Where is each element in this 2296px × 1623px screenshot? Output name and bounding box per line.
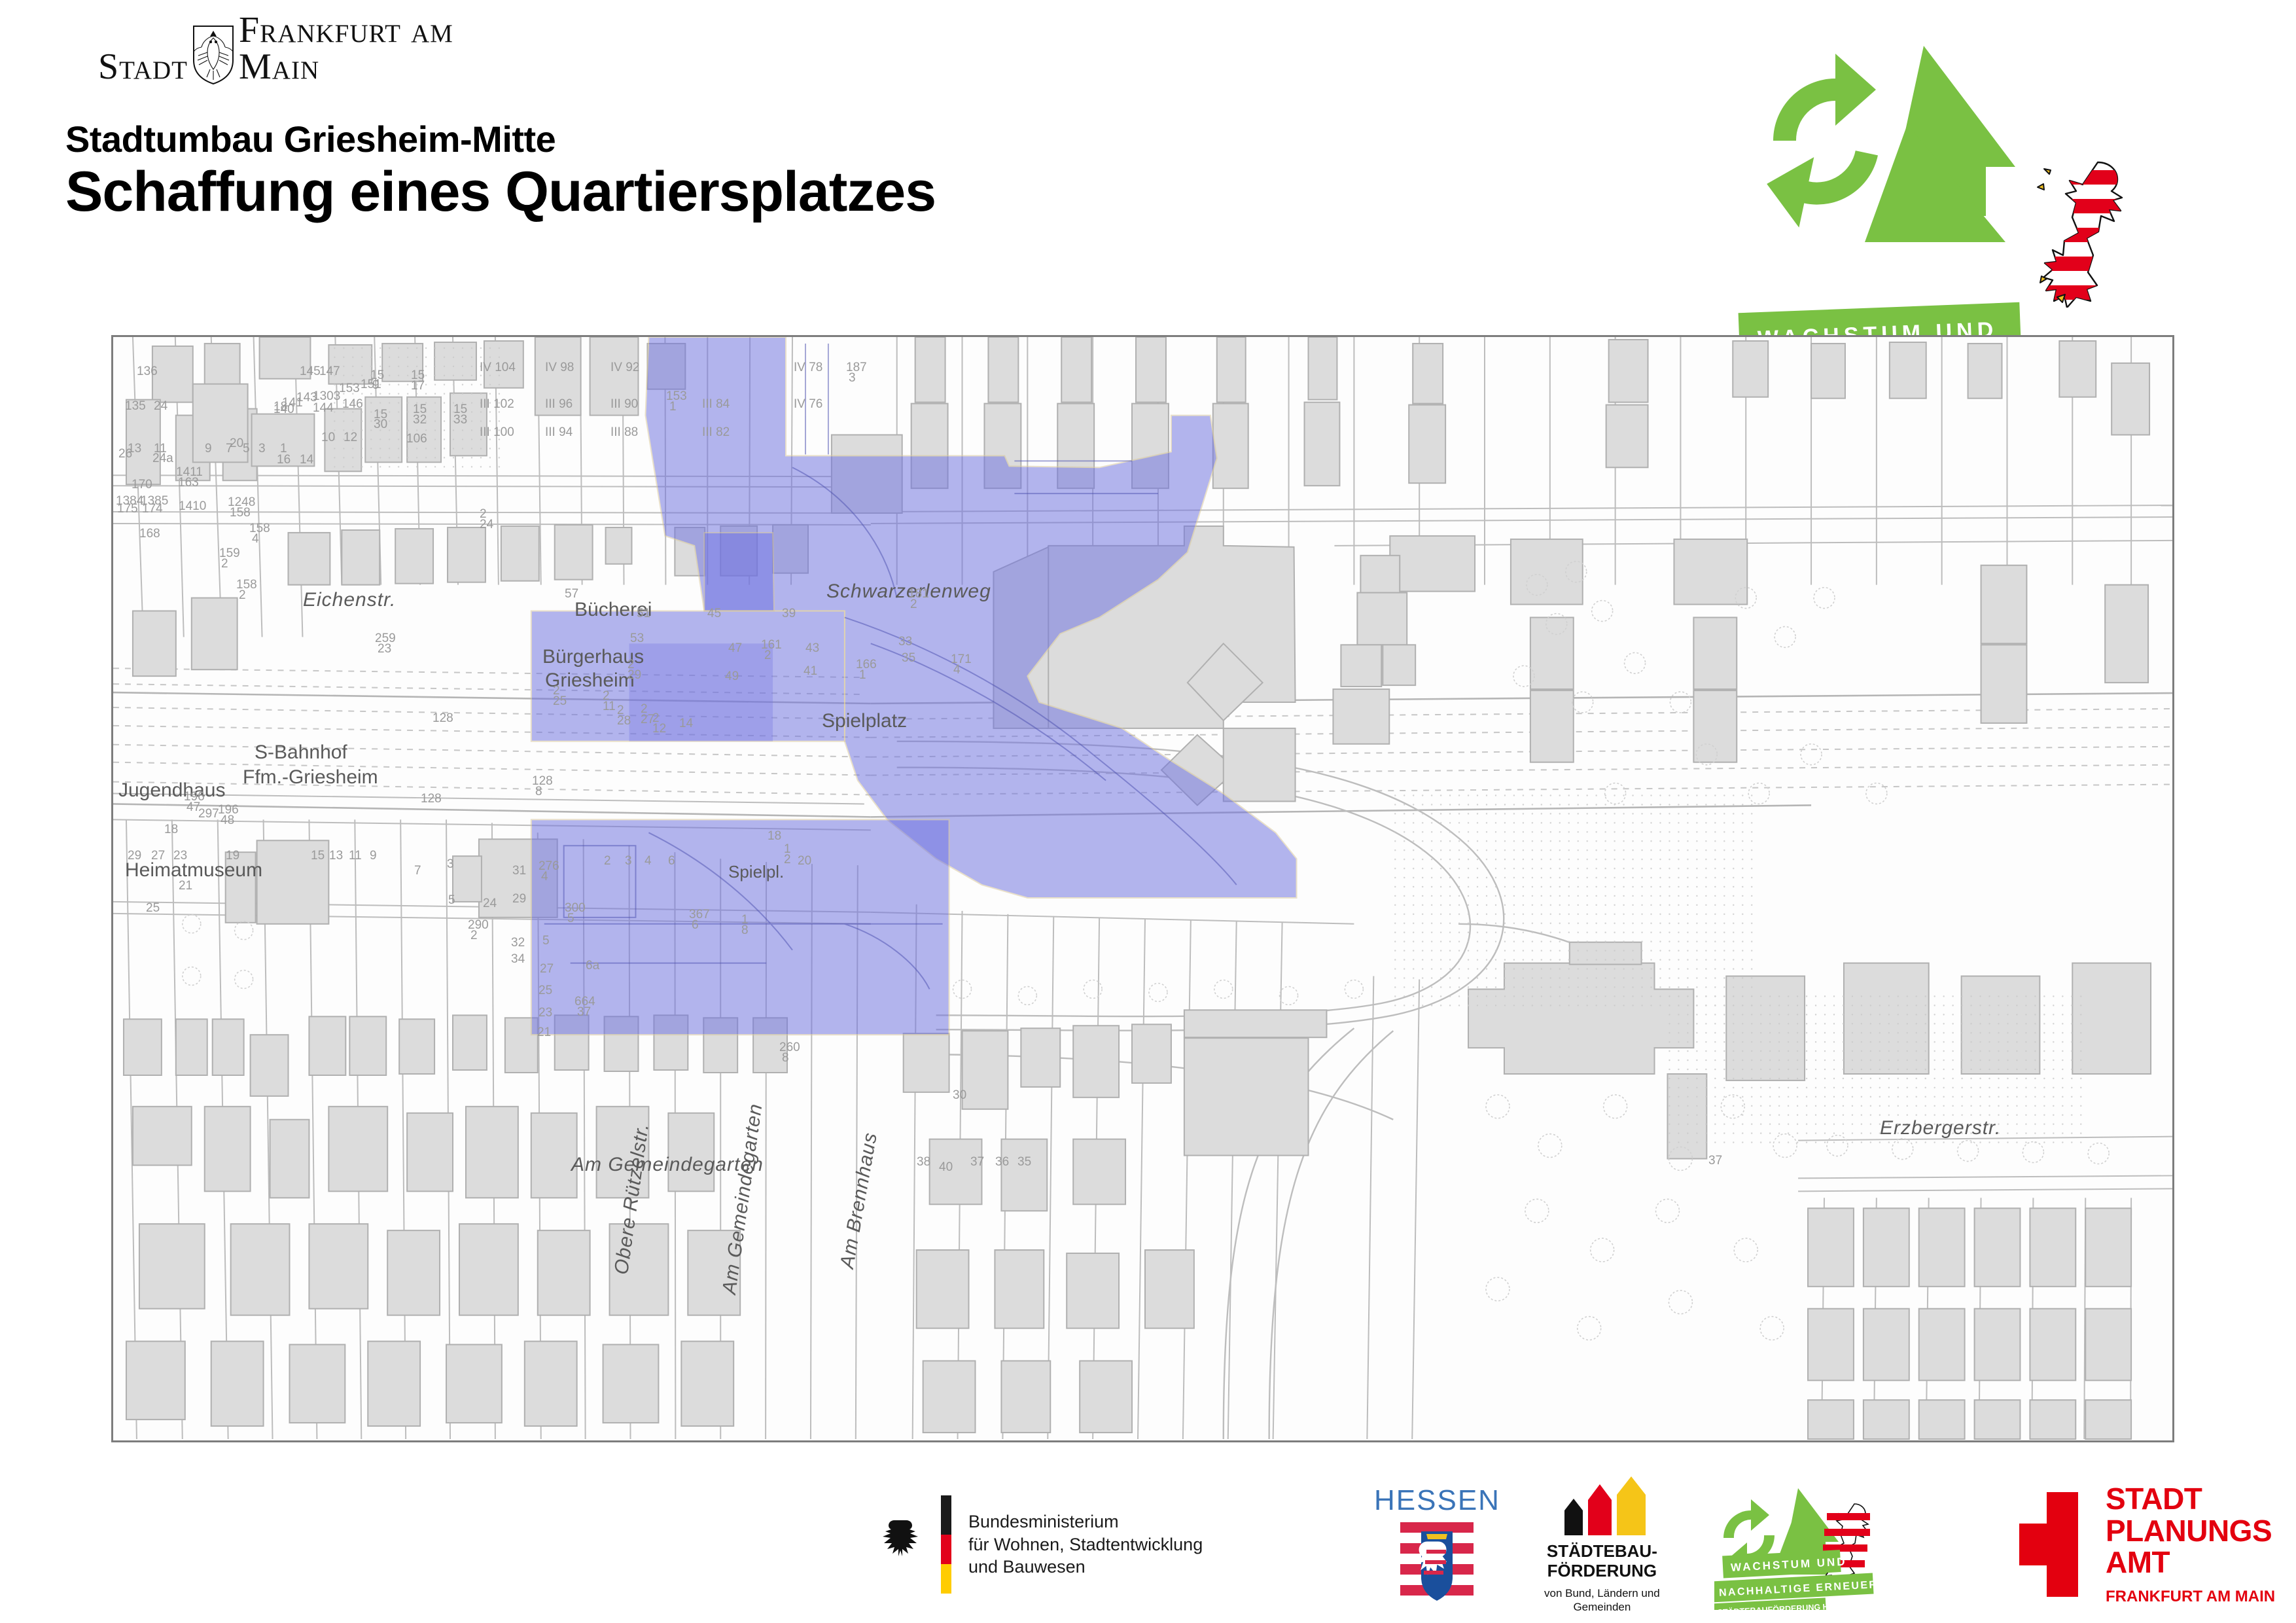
bund-line-1: Bundesministerium [968,1510,1203,1533]
spa-line-2: PLANUNGS [2106,1515,2275,1547]
hessen-shield-icon [1400,1520,1474,1605]
staedtebau-subtitle: von Bund, Ländern und Gemeinden [1544,1586,1660,1614]
stadtplanungsamt-text: STADT PLANUNGS AMT FRANKFURT AM MAIN [2106,1483,2275,1606]
bund-line-3: und Bauwesen [968,1556,1203,1578]
footer-wachstum-logo: WACHSTUM UND NACHHALTIGE ERNEUERUNG STÄD… [1714,1479,1911,1610]
frankfurt-eagle-crest-icon [192,25,235,85]
city-logo-word-stadt: Stadt [98,48,188,85]
city-of-frankfurt-logo: Stadt Frankfurt am Main [98,26,517,85]
staedtebau-sub-line-2: Gemeinden [1544,1600,1660,1614]
green-recycle-house-icon [1734,26,2048,327]
spa-subtitle: FRANKFURT AM MAIN [2106,1588,2275,1606]
spa-lines: STADT PLANUNGS AMT [2106,1483,2275,1578]
page-subtitle: Stadtumbau Griesheim-Mitte [65,118,556,160]
stadtplanungsamt-mark-icon [2015,1492,2087,1597]
bundesministerium-logo: Bundesministerium für Wohnen, Stadtentwi… [870,1466,1203,1623]
hessen-wordmark: HESSEN [1374,1484,1500,1517]
staedtebau-title-line-1: STÄDTEBAU- [1547,1542,1657,1561]
spa-line-1: STADT [2106,1483,2275,1515]
spa-line-3: AMT [2106,1546,2275,1578]
hessen-lion-icon [2024,151,2136,308]
page-header: Stadt Frankfurt am Main Stadtumbau Gries… [0,0,2296,314]
german-flag-bar [941,1495,951,1594]
staedtebau-title: STÄDTEBAU- FÖRDERUNG [1547,1542,1657,1581]
staedtebau-sub-line-1: von Bund, Ländern und [1544,1586,1660,1600]
cadastral-map[interactable]: Eichenstr. Schwarzerlenweg Erzbergerstr.… [111,335,2174,1442]
bundesministerium-text: Bundesministerium für Wohnen, Stadtentwi… [968,1510,1203,1578]
hessen-logo: HESSEN [1374,1466,1500,1623]
staedtebaufoerderung-logo: STÄDTEBAU- FÖRDERUNG von Bund, Ländern u… [1544,1466,1660,1623]
map-drawing [113,337,2172,1440]
three-houses-icon [1553,1475,1651,1535]
bundesadler-icon [870,1516,919,1573]
page-footer: Bundesministerium für Wohnen, Stadtentwi… [0,1466,2296,1623]
footer-wachstum-graphic: WACHSTUM UND NACHHALTIGE ERNEUERUNG STÄD… [1714,1479,1911,1610]
page-title: Schaffung eines Quartiersplatzes [65,160,936,224]
bund-line-2: für Wohnen, Stadtentwicklung [968,1533,1203,1556]
stadtplanungsamt-logo: STADT PLANUNGS AMT FRANKFURT AM MAIN [2015,1466,2275,1623]
staedtebau-title-line-2: FÖRDERUNG [1547,1561,1657,1581]
city-logo-word-frankfurt: Frankfurt am Main [239,12,517,85]
